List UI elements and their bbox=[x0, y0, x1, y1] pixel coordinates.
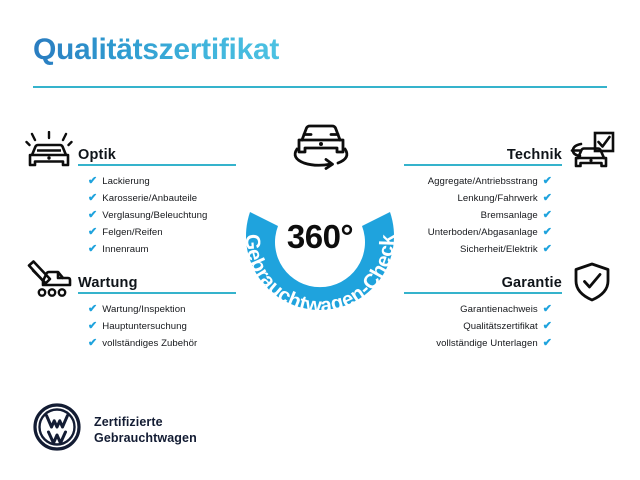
badge-360-check: Gebrauchtwagen-Check 360° bbox=[222, 118, 418, 324]
check-icon: ✔ bbox=[543, 304, 552, 315]
list-item-label: Verglasung/Beleuchtung bbox=[102, 208, 207, 223]
list-item-label: Karosserie/Anbauteile bbox=[102, 191, 197, 206]
check-icon: ✔ bbox=[543, 193, 552, 204]
section-garantie-list: Garantienachweis ✔ Qualitätszertifikat ✔… bbox=[404, 302, 562, 351]
car-shine-icon bbox=[25, 131, 73, 176]
list-item: Lenkung/Fahrwerk ✔ bbox=[457, 191, 552, 206]
list-item-label: Innenraum bbox=[102, 242, 148, 257]
list-item: Unterboden/Abgasanlage ✔ bbox=[428, 225, 552, 240]
volkswagen-logo bbox=[33, 403, 81, 456]
list-item: ✔ Lackierung bbox=[88, 174, 150, 189]
section-optik-list: ✔ Lackierung ✔ Karosserie/Anbauteile ✔ V… bbox=[78, 174, 236, 257]
list-item-label: vollständiges Zubehör bbox=[102, 336, 197, 351]
section-optik-title: Optik bbox=[78, 147, 116, 163]
list-item: ✔ Felgen/Reifen bbox=[88, 225, 163, 240]
check-icon: ✔ bbox=[543, 227, 552, 238]
check-icon: ✔ bbox=[88, 227, 97, 238]
certificate-page: Qualitätszertifikat Optik bbox=[0, 0, 640, 480]
list-item-label: Bremsanlage bbox=[481, 208, 538, 223]
list-item-label: Aggregate/Antriebsstrang bbox=[428, 174, 538, 189]
section-wartung-divider bbox=[78, 292, 236, 294]
section-technik-title: Technik bbox=[507, 147, 562, 163]
title-divider bbox=[33, 86, 607, 88]
list-item-label: Lenkung/Fahrwerk bbox=[457, 191, 537, 206]
check-icon: ✔ bbox=[88, 338, 97, 349]
check-icon: ✔ bbox=[543, 176, 552, 187]
section-optik-divider bbox=[78, 164, 236, 166]
section-optik-header: Optik bbox=[78, 140, 236, 166]
check-icon: ✔ bbox=[543, 244, 552, 255]
footer-line-1: Zertifizierte bbox=[94, 414, 197, 430]
check-icon: ✔ bbox=[88, 176, 97, 187]
list-item: ✔ Wartung/Inspektion bbox=[88, 302, 185, 317]
check-icon: ✔ bbox=[543, 321, 552, 332]
list-item-label: Garantienachweis bbox=[460, 302, 538, 317]
section-technik-divider bbox=[404, 164, 562, 166]
list-item-label: Unterboden/Abgasanlage bbox=[428, 225, 538, 240]
list-item: Sicherheit/Elektrik ✔ bbox=[460, 242, 552, 257]
list-item: ✔ vollständiges Zubehör bbox=[88, 336, 197, 351]
list-item: vollständige Unterlagen ✔ bbox=[436, 336, 552, 351]
list-item-label: Lackierung bbox=[102, 174, 149, 189]
list-item: ✔ Verglasung/Beleuchtung bbox=[88, 208, 207, 223]
section-wartung: Wartung ✔ Wartung/Inspektion ✔ Hauptunte… bbox=[78, 268, 236, 351]
section-wartung-list: ✔ Wartung/Inspektion ✔ Hauptuntersuchung… bbox=[78, 302, 236, 351]
footer-brand-text: Zertifizierte Gebrauchtwagen bbox=[94, 414, 197, 446]
list-item: Aggregate/Antriebsstrang ✔ bbox=[428, 174, 552, 189]
list-item: ✔ Innenraum bbox=[88, 242, 149, 257]
section-technik: Technik Aggregate/Antriebsstrang ✔ Lenku… bbox=[404, 140, 562, 257]
list-item-label: Qualitätszertifikat bbox=[463, 319, 538, 334]
check-icon: ✔ bbox=[88, 210, 97, 221]
section-optik: Optik ✔ Lackierung ✔ Karosserie/Anbautei… bbox=[78, 140, 236, 257]
list-item: ✔ Hauptuntersuchung bbox=[88, 319, 187, 334]
section-garantie: Garantie Garantienachweis ✔ Qualitätszer… bbox=[404, 268, 562, 351]
list-item: ✔ Karosserie/Anbauteile bbox=[88, 191, 197, 206]
check-icon: ✔ bbox=[88, 193, 97, 204]
section-garantie-header: Garantie bbox=[404, 268, 562, 294]
list-item-label: Sicherheit/Elektrik bbox=[460, 242, 538, 257]
section-wartung-header: Wartung bbox=[78, 268, 236, 294]
section-technik-header: Technik bbox=[404, 140, 562, 166]
list-item-label: Wartung/Inspektion bbox=[102, 302, 185, 317]
section-wartung-title: Wartung bbox=[78, 275, 138, 291]
check-icon: ✔ bbox=[88, 244, 97, 255]
page-title: Qualitätszertifikat bbox=[33, 33, 279, 67]
list-item-label: Hauptuntersuchung bbox=[102, 319, 187, 334]
list-item: Bremsanlage ✔ bbox=[481, 208, 552, 223]
list-item-label: vollständige Unterlagen bbox=[436, 336, 537, 351]
shield-check-icon bbox=[573, 262, 611, 307]
footer-brand: Zertifizierte Gebrauchtwagen bbox=[33, 403, 197, 456]
car-checkbox-icon bbox=[568, 131, 616, 176]
check-icon: ✔ bbox=[543, 338, 552, 349]
check-icon: ✔ bbox=[543, 210, 552, 221]
car-service-tool-icon bbox=[25, 259, 73, 304]
section-garantie-title: Garantie bbox=[502, 275, 562, 291]
list-item: Qualitätszertifikat ✔ bbox=[463, 319, 552, 334]
check-icon: ✔ bbox=[88, 321, 97, 332]
list-item: Garantienachweis ✔ bbox=[460, 302, 552, 317]
section-garantie-divider bbox=[404, 292, 562, 294]
footer-line-2: Gebrauchtwagen bbox=[94, 430, 197, 446]
list-item-label: Felgen/Reifen bbox=[102, 225, 162, 240]
check-icon: ✔ bbox=[88, 304, 97, 315]
badge-degrees-label: 360° bbox=[222, 218, 418, 256]
section-technik-list: Aggregate/Antriebsstrang ✔ Lenkung/Fahrw… bbox=[404, 174, 562, 257]
